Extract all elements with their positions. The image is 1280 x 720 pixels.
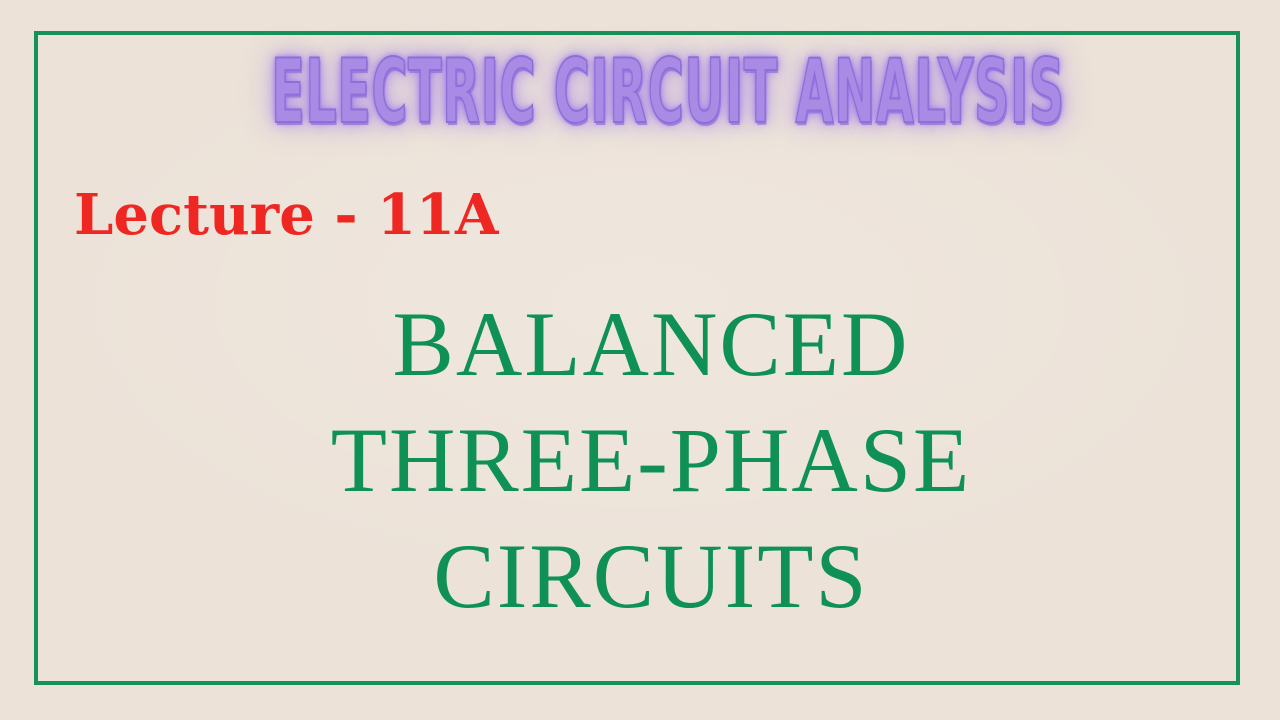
lecture-title-slide: ELECTRIC CIRCUIT ANALYSIS Lecture - 11A …	[0, 0, 1280, 720]
subject-line-1: BALANCED	[22, 286, 1280, 402]
subject-heading: BALANCED THREE-PHASE CIRCUITS	[0, 286, 1280, 634]
subject-line-3: CIRCUITS	[22, 518, 1280, 634]
lecture-number: Lecture - 11A	[74, 187, 498, 243]
lecture-number-text: Lecture - 11A	[74, 182, 498, 248]
subject-line-2: THREE-PHASE	[22, 402, 1280, 518]
course-title: ELECTRIC CIRCUIT ANALYSIS	[0, 48, 1280, 136]
course-title-text: ELECTRIC CIRCUIT ANALYSIS	[271, 48, 1065, 136]
